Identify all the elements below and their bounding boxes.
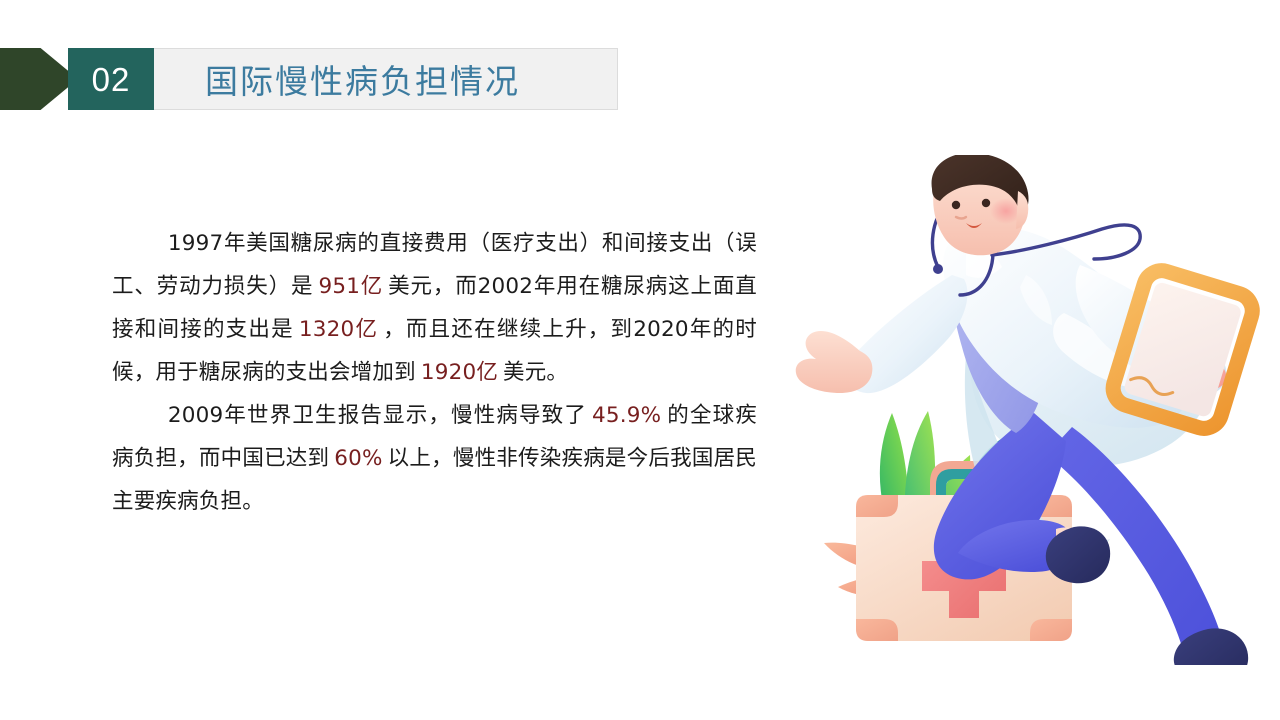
left-hand [796, 331, 873, 393]
highlight-value-45-9-percent: 45.9% [587, 403, 666, 428]
running-doctor-illustration [780, 155, 1280, 665]
stethoscope-chestpiece [933, 264, 943, 274]
paragraph-2-text-part-1: 2009年世界卫生报告显示，慢性病导致了 [168, 403, 587, 428]
header-number-label: 02 [92, 63, 131, 96]
left-arm [796, 275, 968, 393]
page-title: 国际慢性病负担情况 [205, 48, 520, 110]
highlight-value-60-percent: 60% [329, 446, 387, 471]
header-arrow-shape [0, 48, 78, 110]
header-number-badge: 02 [68, 48, 154, 110]
paragraph-1: 1997年美国糖尿病的直接费用（医疗支出）和间接支出（误工、劳动力损失）是951… [112, 222, 757, 394]
highlight-value-1320yi: 1320亿 [294, 317, 383, 342]
right-eye [982, 199, 990, 207]
slide-header: 02 国际慢性病负担情况 [0, 48, 620, 110]
left-eye [952, 201, 960, 209]
paragraph-2: 2009年世界卫生报告显示，慢性病导致了45.9%的全球疾病负担，而中国已达到6… [112, 394, 757, 523]
kit-corner-bottom-left [856, 619, 898, 641]
highlight-value-1920yi: 1920亿 [416, 360, 503, 385]
doctor-illustration-svg [780, 155, 1280, 665]
kit-corner-bottom-right [1030, 619, 1072, 641]
kit-corner-top-left [856, 495, 898, 517]
highlight-value-951yi: 951亿 [313, 274, 388, 299]
paragraph-1-text-part-4: 美元。 [503, 360, 568, 385]
body-copy: 1997年美国糖尿病的直接费用（医疗支出）和间接支出（误工、劳动力损失）是951… [112, 222, 757, 523]
head [932, 155, 1029, 255]
